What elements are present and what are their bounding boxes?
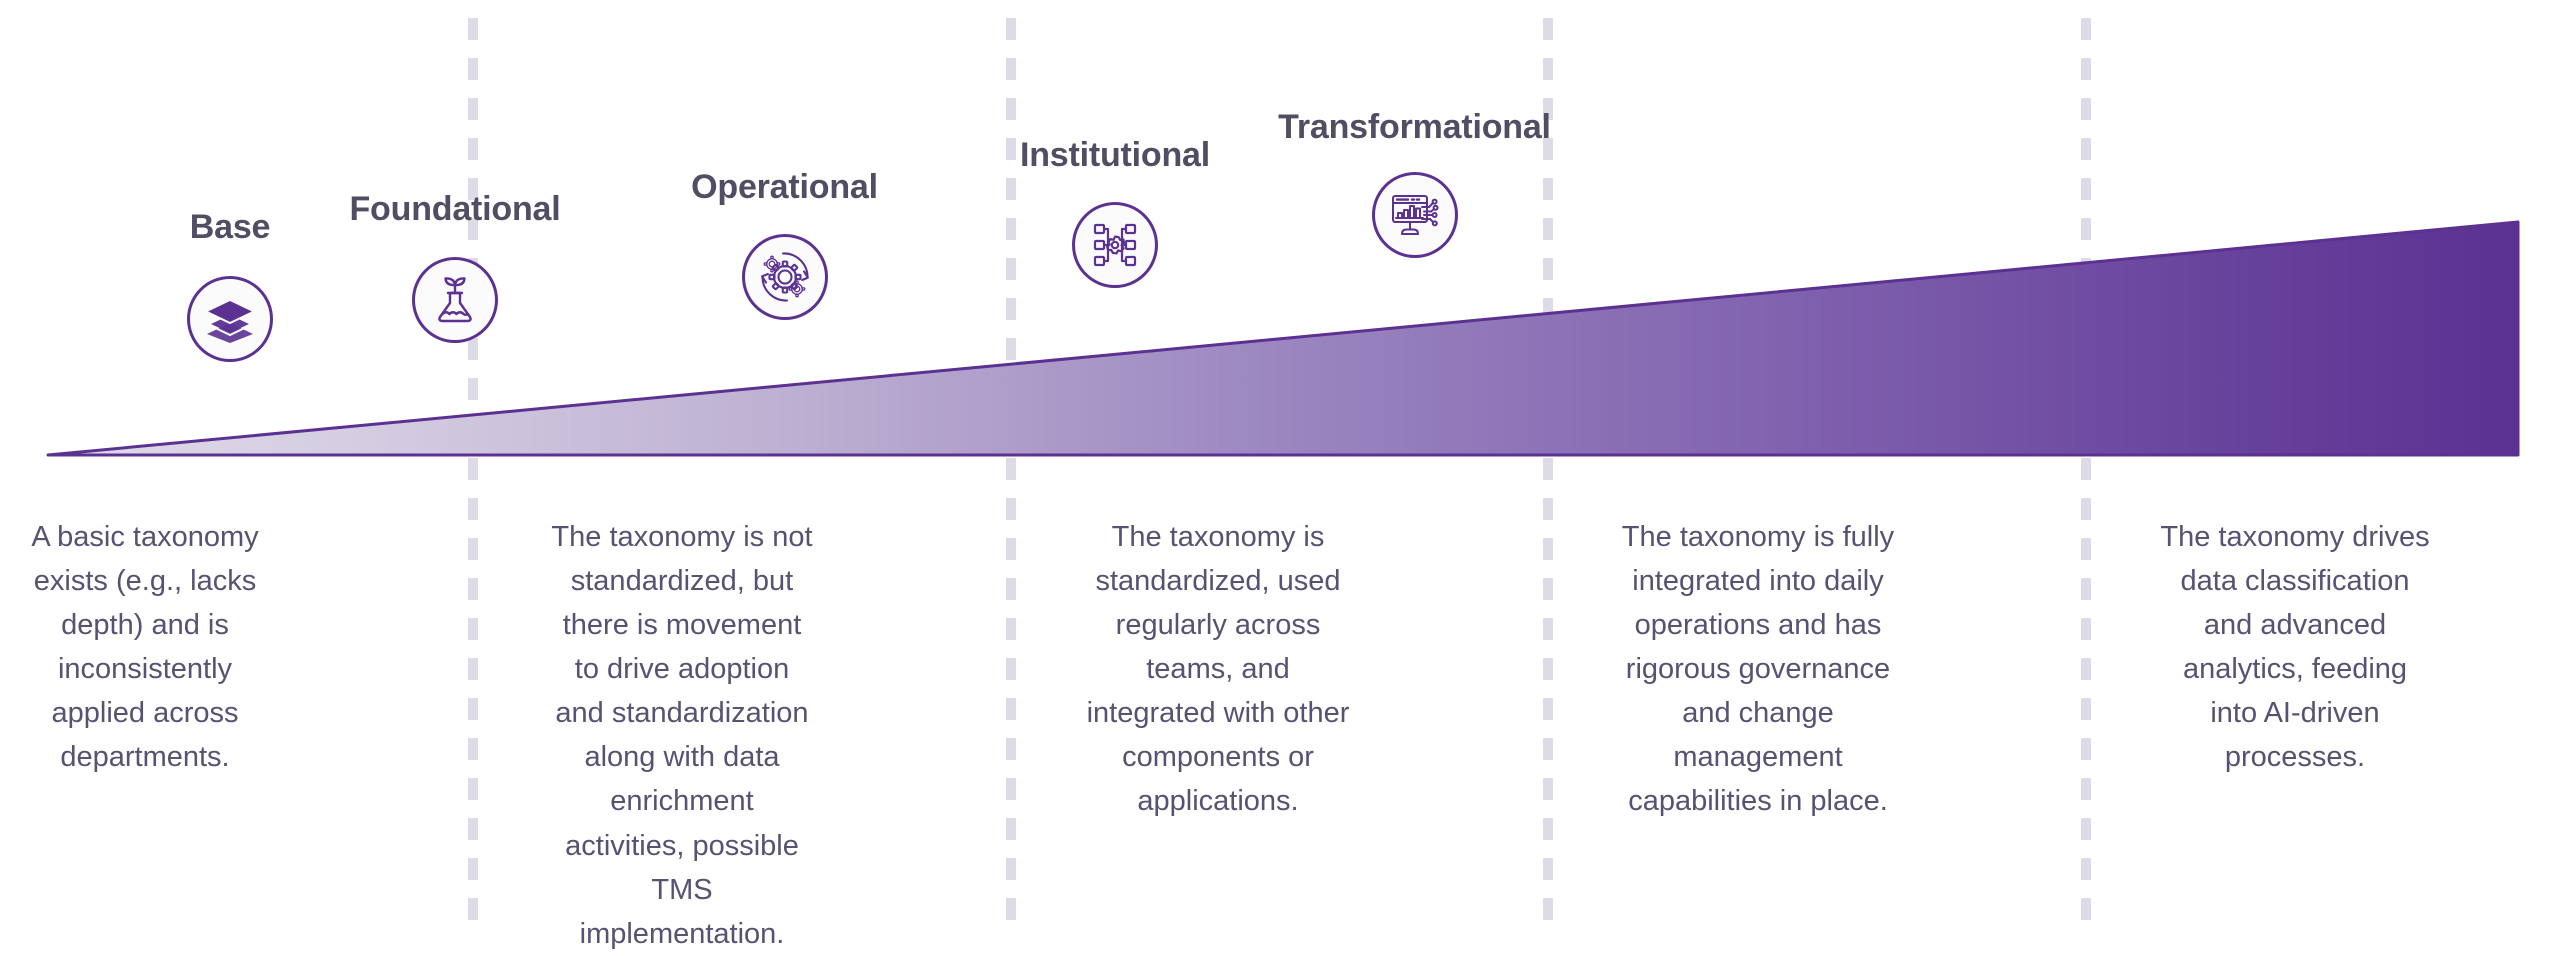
gears-cycle-icon (742, 234, 828, 320)
stage-divider (2081, 18, 2091, 928)
maturity-model-diagram: Base A basic taxonomy exists (e.g., lack… (0, 0, 2560, 928)
stage-description: The taxonomy drives data classification … (2160, 515, 2430, 779)
layers-stack-icon (187, 276, 273, 362)
stage-divider (468, 18, 478, 928)
stage-label: Transformational (1278, 110, 1551, 144)
stage-base[interactable]: Base (140, 210, 320, 362)
stage-label: Foundational (349, 192, 560, 226)
stage-transformational[interactable]: Transformational (1272, 110, 1557, 258)
stage-institutional[interactable]: Institutional (1000, 138, 1230, 288)
stage-description: A basic taxonomy exists (e.g., lacks dep… (25, 515, 265, 779)
flask-sprout-icon (412, 257, 498, 343)
stage-foundational[interactable]: Foundational (340, 192, 570, 343)
stage-operational[interactable]: Operational (672, 170, 897, 320)
stage-label: Base (190, 210, 270, 244)
analytics-monitor-ai-icon (1372, 172, 1458, 258)
network-gear-icon (1072, 202, 1158, 288)
stage-label: Operational (691, 170, 878, 204)
stage-description: The taxonomy is fully integrated into da… (1618, 515, 1898, 824)
stage-label: Institutional (1020, 138, 1210, 172)
stage-description: The taxonomy is not standardized, but th… (548, 515, 816, 956)
stage-description: The taxonomy is standardized, used regul… (1078, 515, 1358, 824)
